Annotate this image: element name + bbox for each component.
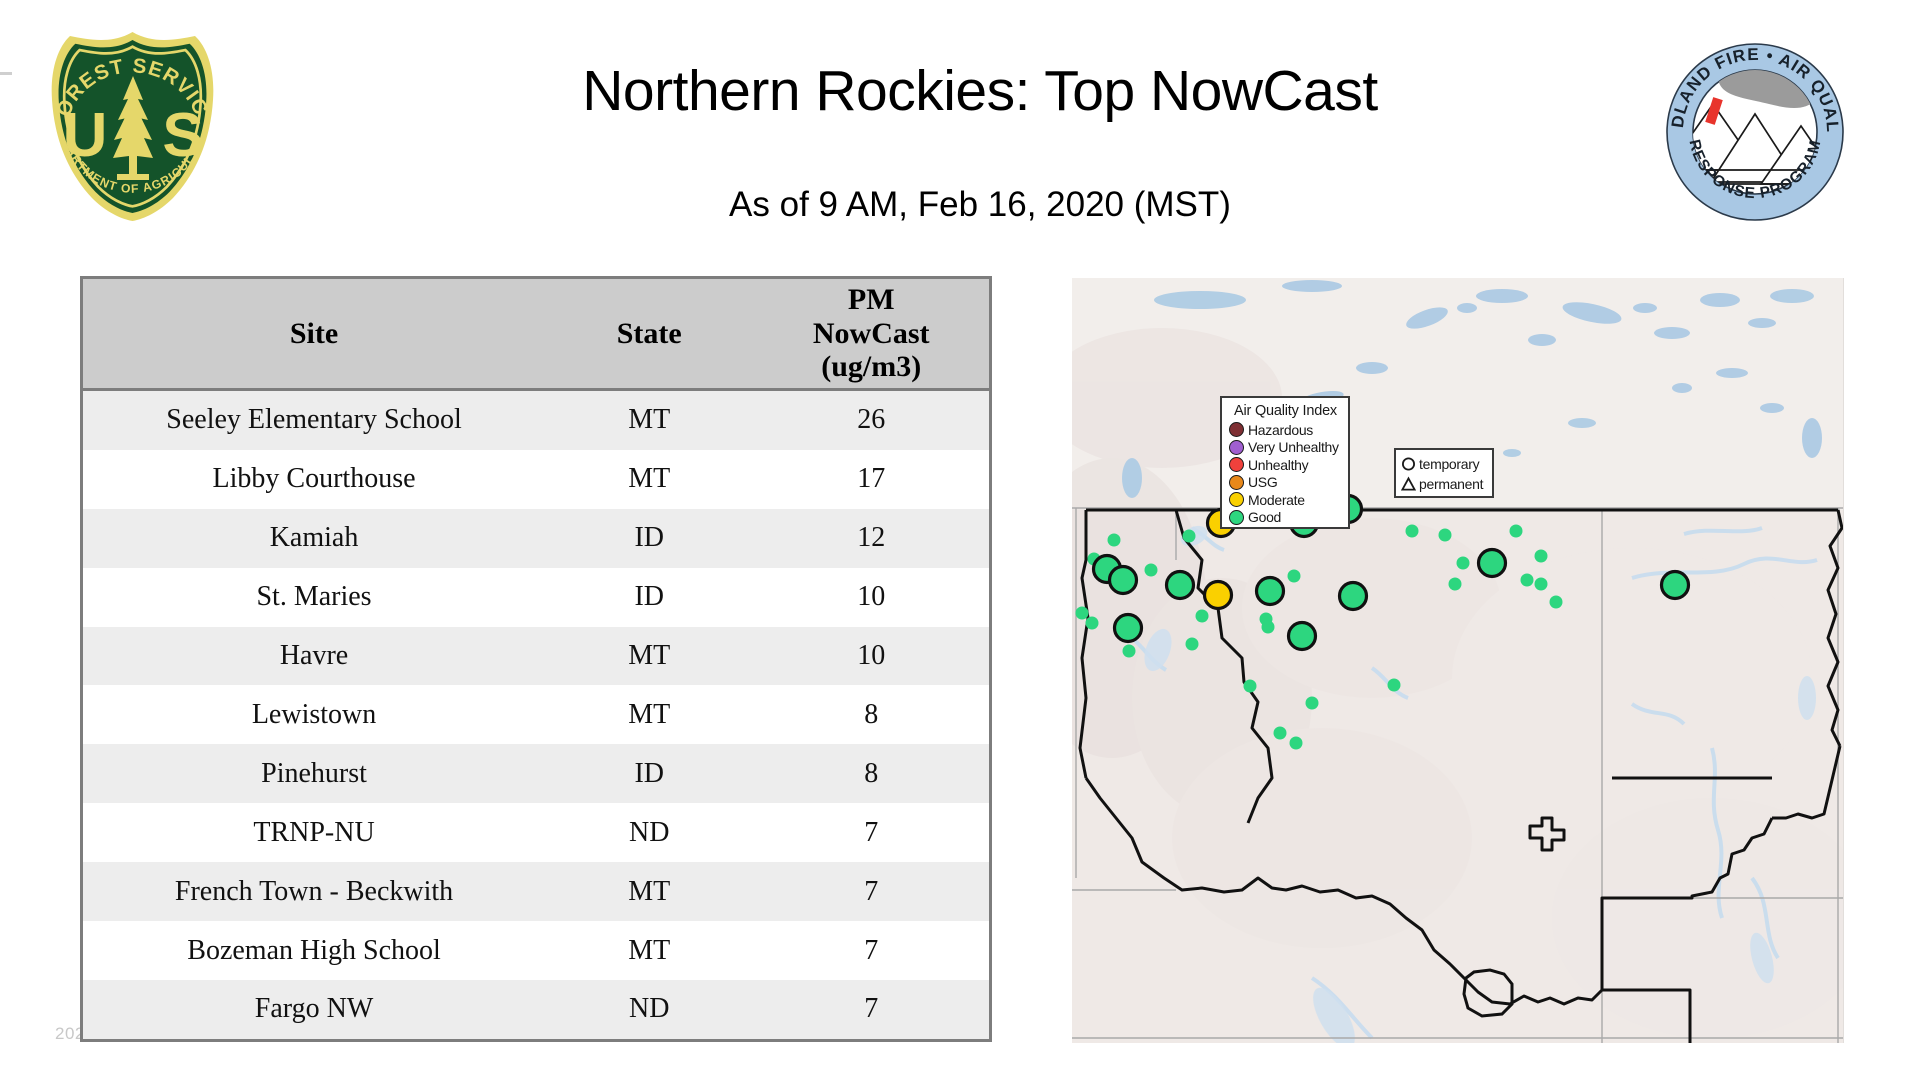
state-cell: ID [545,744,753,803]
aqi-legend-row: Hazardous [1229,421,1342,439]
aqi-legend: Air Quality Index HazardousVery Unhealth… [1220,396,1350,529]
monitor-marker-good[interactable] [1115,615,1142,642]
monitor-dot-small[interactable] [1550,596,1563,609]
state-cell: MT [545,627,753,686]
monitor-dot-small[interactable] [1108,534,1121,547]
monitor-marker-good[interactable] [1662,572,1689,599]
pm-cell: 7 [753,921,989,980]
aqi-legend-row: Moderate [1229,491,1342,509]
column-header-pm-line1: PM [753,283,989,317]
aqi-legend-swatch [1229,492,1244,507]
monitor-dot-small[interactable] [1449,578,1462,591]
aqi-legend-row: Good [1229,509,1342,527]
aqi-legend-swatch [1229,510,1244,525]
aqi-legend-swatch [1229,457,1244,472]
pm-cell: 10 [753,568,989,627]
table-row: Libby CourthouseMT17 [83,450,989,509]
state-cell: MT [545,389,753,450]
monitor-dot-small[interactable] [1406,525,1419,538]
monitor-dot-small[interactable] [1086,617,1099,630]
site-cell: Fargo NW [83,980,545,1039]
state-cell: ND [545,803,753,862]
table-row: French Town - BeckwithMT7 [83,862,989,921]
site-cell: Libby Courthouse [83,450,545,509]
monitor-dot-small[interactable] [1274,727,1287,740]
table-header-row: Site State PM NowCast (ug/m3) [83,279,989,389]
site-cell: St. Maries [83,568,545,627]
aqi-legend-label: Very Unhealthy [1248,439,1339,455]
wildland-fire-air-quality-response-program-logo: WILDLAND FIRE • AIR QUALITY RESPONSE PRO… [1665,42,1845,222]
table-row: Fargo NWND7 [83,980,989,1039]
top-nowcast-table: Site State PM NowCast (ug/m3) Seeley Ele… [80,276,992,1042]
pm-cell: 7 [753,980,989,1039]
column-header-site: Site [83,279,545,389]
circle-outline-icon [1401,456,1416,473]
aqi-legend-swatch [1229,475,1244,490]
monitor-dot-small[interactable] [1535,578,1548,591]
monitor-marker-good[interactable] [1340,583,1367,610]
site-type-permanent-label: permanent [1419,476,1483,492]
monitor-dot-small[interactable] [1145,564,1158,577]
state-cell: ND [545,980,753,1039]
aqi-legend-swatch [1229,422,1244,437]
state-cell: ID [545,509,753,568]
monitor-dot-small[interactable] [1262,621,1275,634]
monitor-dot-small[interactable] [1521,574,1534,587]
svg-text:U: U [63,101,108,170]
site-cell: Kamiah [83,509,545,568]
site-cell: French Town - Beckwith [83,862,545,921]
svg-text:S: S [162,101,203,170]
pm-cell: 12 [753,509,989,568]
aqi-legend-label: USG [1248,474,1277,490]
triangle-outline-icon [1401,476,1416,493]
monitor-dot-small[interactable] [1439,529,1452,542]
aqi-legend-label: Good [1248,509,1281,525]
slide-edge-tick-left [0,72,12,75]
aqi-legend-row: Very Unhealthy [1229,439,1342,457]
monitor-dot-small[interactable] [1123,645,1136,658]
table-row: Bozeman High SchoolMT7 [83,921,989,980]
site-type-legend: temporary permanent [1394,448,1494,498]
monitor-dot-small[interactable] [1196,610,1209,623]
state-cell: MT [545,450,753,509]
column-header-pm-line3: (ug/m3) [753,350,989,384]
state-cell: MT [545,685,753,744]
monitor-dot-small[interactable] [1388,679,1401,692]
pm-cell: 10 [753,627,989,686]
table-row: HavreMT10 [83,627,989,686]
monitor-marker-good[interactable] [1289,623,1316,650]
page-subtitle: As of 9 AM, Feb 16, 2020 (MST) [330,185,1630,225]
table-row: St. MariesID10 [83,568,989,627]
pm-cell: 26 [753,389,989,450]
column-header-state: State [545,279,753,389]
monitor-marker-moderate[interactable] [1205,582,1232,609]
monitor-dot-small[interactable] [1183,530,1196,543]
monitor-dot-small[interactable] [1306,697,1319,710]
monitor-dot-small[interactable] [1186,638,1199,651]
aqi-legend-label: Hazardous [1248,422,1313,438]
table-row: Seeley Elementary SchoolMT26 [83,389,989,450]
monitor-dot-small[interactable] [1244,680,1257,693]
site-type-temporary: temporary [1401,454,1487,474]
site-type-permanent: permanent [1401,474,1487,494]
pm-cell: 8 [753,744,989,803]
aqi-legend-row: USG [1229,474,1342,492]
aqi-legend-swatch [1229,440,1244,455]
monitor-dot-small[interactable] [1076,607,1089,620]
site-cell: Seeley Elementary School [83,389,545,450]
pm-cell: 17 [753,450,989,509]
pm-cell: 8 [753,685,989,744]
aqi-legend-label: Unhealthy [1248,457,1308,473]
aqi-legend-title: Air Quality Index [1229,403,1342,419]
monitor-dot-small[interactable] [1535,550,1548,563]
aqi-legend-label: Moderate [1248,492,1305,508]
state-cell: MT [545,862,753,921]
column-header-pm-line2: NowCast [753,317,989,351]
page-title: Northern Rockies: Top NowCast [330,62,1630,122]
site-cell: Pinehurst [83,744,545,803]
monitor-marker-good[interactable] [1167,572,1194,599]
monitor-dot-small[interactable] [1510,525,1523,538]
aqi-legend-row: Unhealthy [1229,456,1342,474]
monitor-dot-small[interactable] [1288,570,1301,583]
table-row: KamiahID12 [83,509,989,568]
site-cell: Havre [83,627,545,686]
monitor-dot-small[interactable] [1290,737,1303,750]
site-cell: Bozeman High School [83,921,545,980]
monitor-marker-good[interactable] [1110,567,1137,594]
pm-cell: 7 [753,862,989,921]
monitor-marker-good[interactable] [1257,578,1284,605]
site-cell: TRNP-NU [83,803,545,862]
state-cell: MT [545,921,753,980]
table-row: PinehurstID8 [83,744,989,803]
monitor-dot-small[interactable] [1457,557,1470,570]
state-cell: ID [545,568,753,627]
pm-cell: 7 [753,803,989,862]
table-row: TRNP-NUND7 [83,803,989,862]
usfs-shield-logo: FOREST SERVICE DEPARTMENT OF AGRICULTURE… [45,28,220,223]
table-row: LewistownMT8 [83,685,989,744]
monitor-marker-good[interactable] [1479,550,1506,577]
site-cell: Lewistown [83,685,545,744]
site-type-temporary-label: temporary [1419,456,1479,472]
air-quality-monitor-map[interactable]: Air Quality Index HazardousVery Unhealth… [1072,278,1844,1043]
column-header-pm-nowcast: PM NowCast (ug/m3) [753,279,989,389]
